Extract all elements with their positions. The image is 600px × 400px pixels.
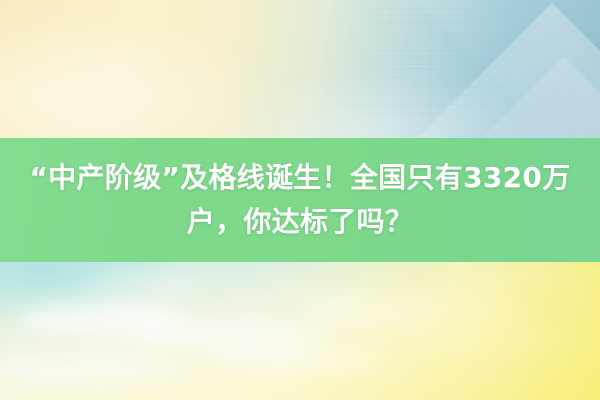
top-haze-overlay [0, 0, 600, 140]
headline-band: “中产阶级”及格线诞生！全国只有3320万户，你达标了吗？ [0, 138, 600, 262]
cloud-shape [0, 354, 180, 382]
top-gradient-area [0, 0, 600, 140]
cloud-shape [80, 276, 210, 296]
sky-yellow-tint [280, 262, 600, 400]
bottom-sky-area [0, 262, 600, 400]
banner-image: “中产阶级”及格线诞生！全国只有3320万户，你达标了吗？ [0, 0, 600, 400]
headline-title: “中产阶级”及格线诞生！全国只有3320万户，你达标了吗？ [18, 156, 582, 244]
